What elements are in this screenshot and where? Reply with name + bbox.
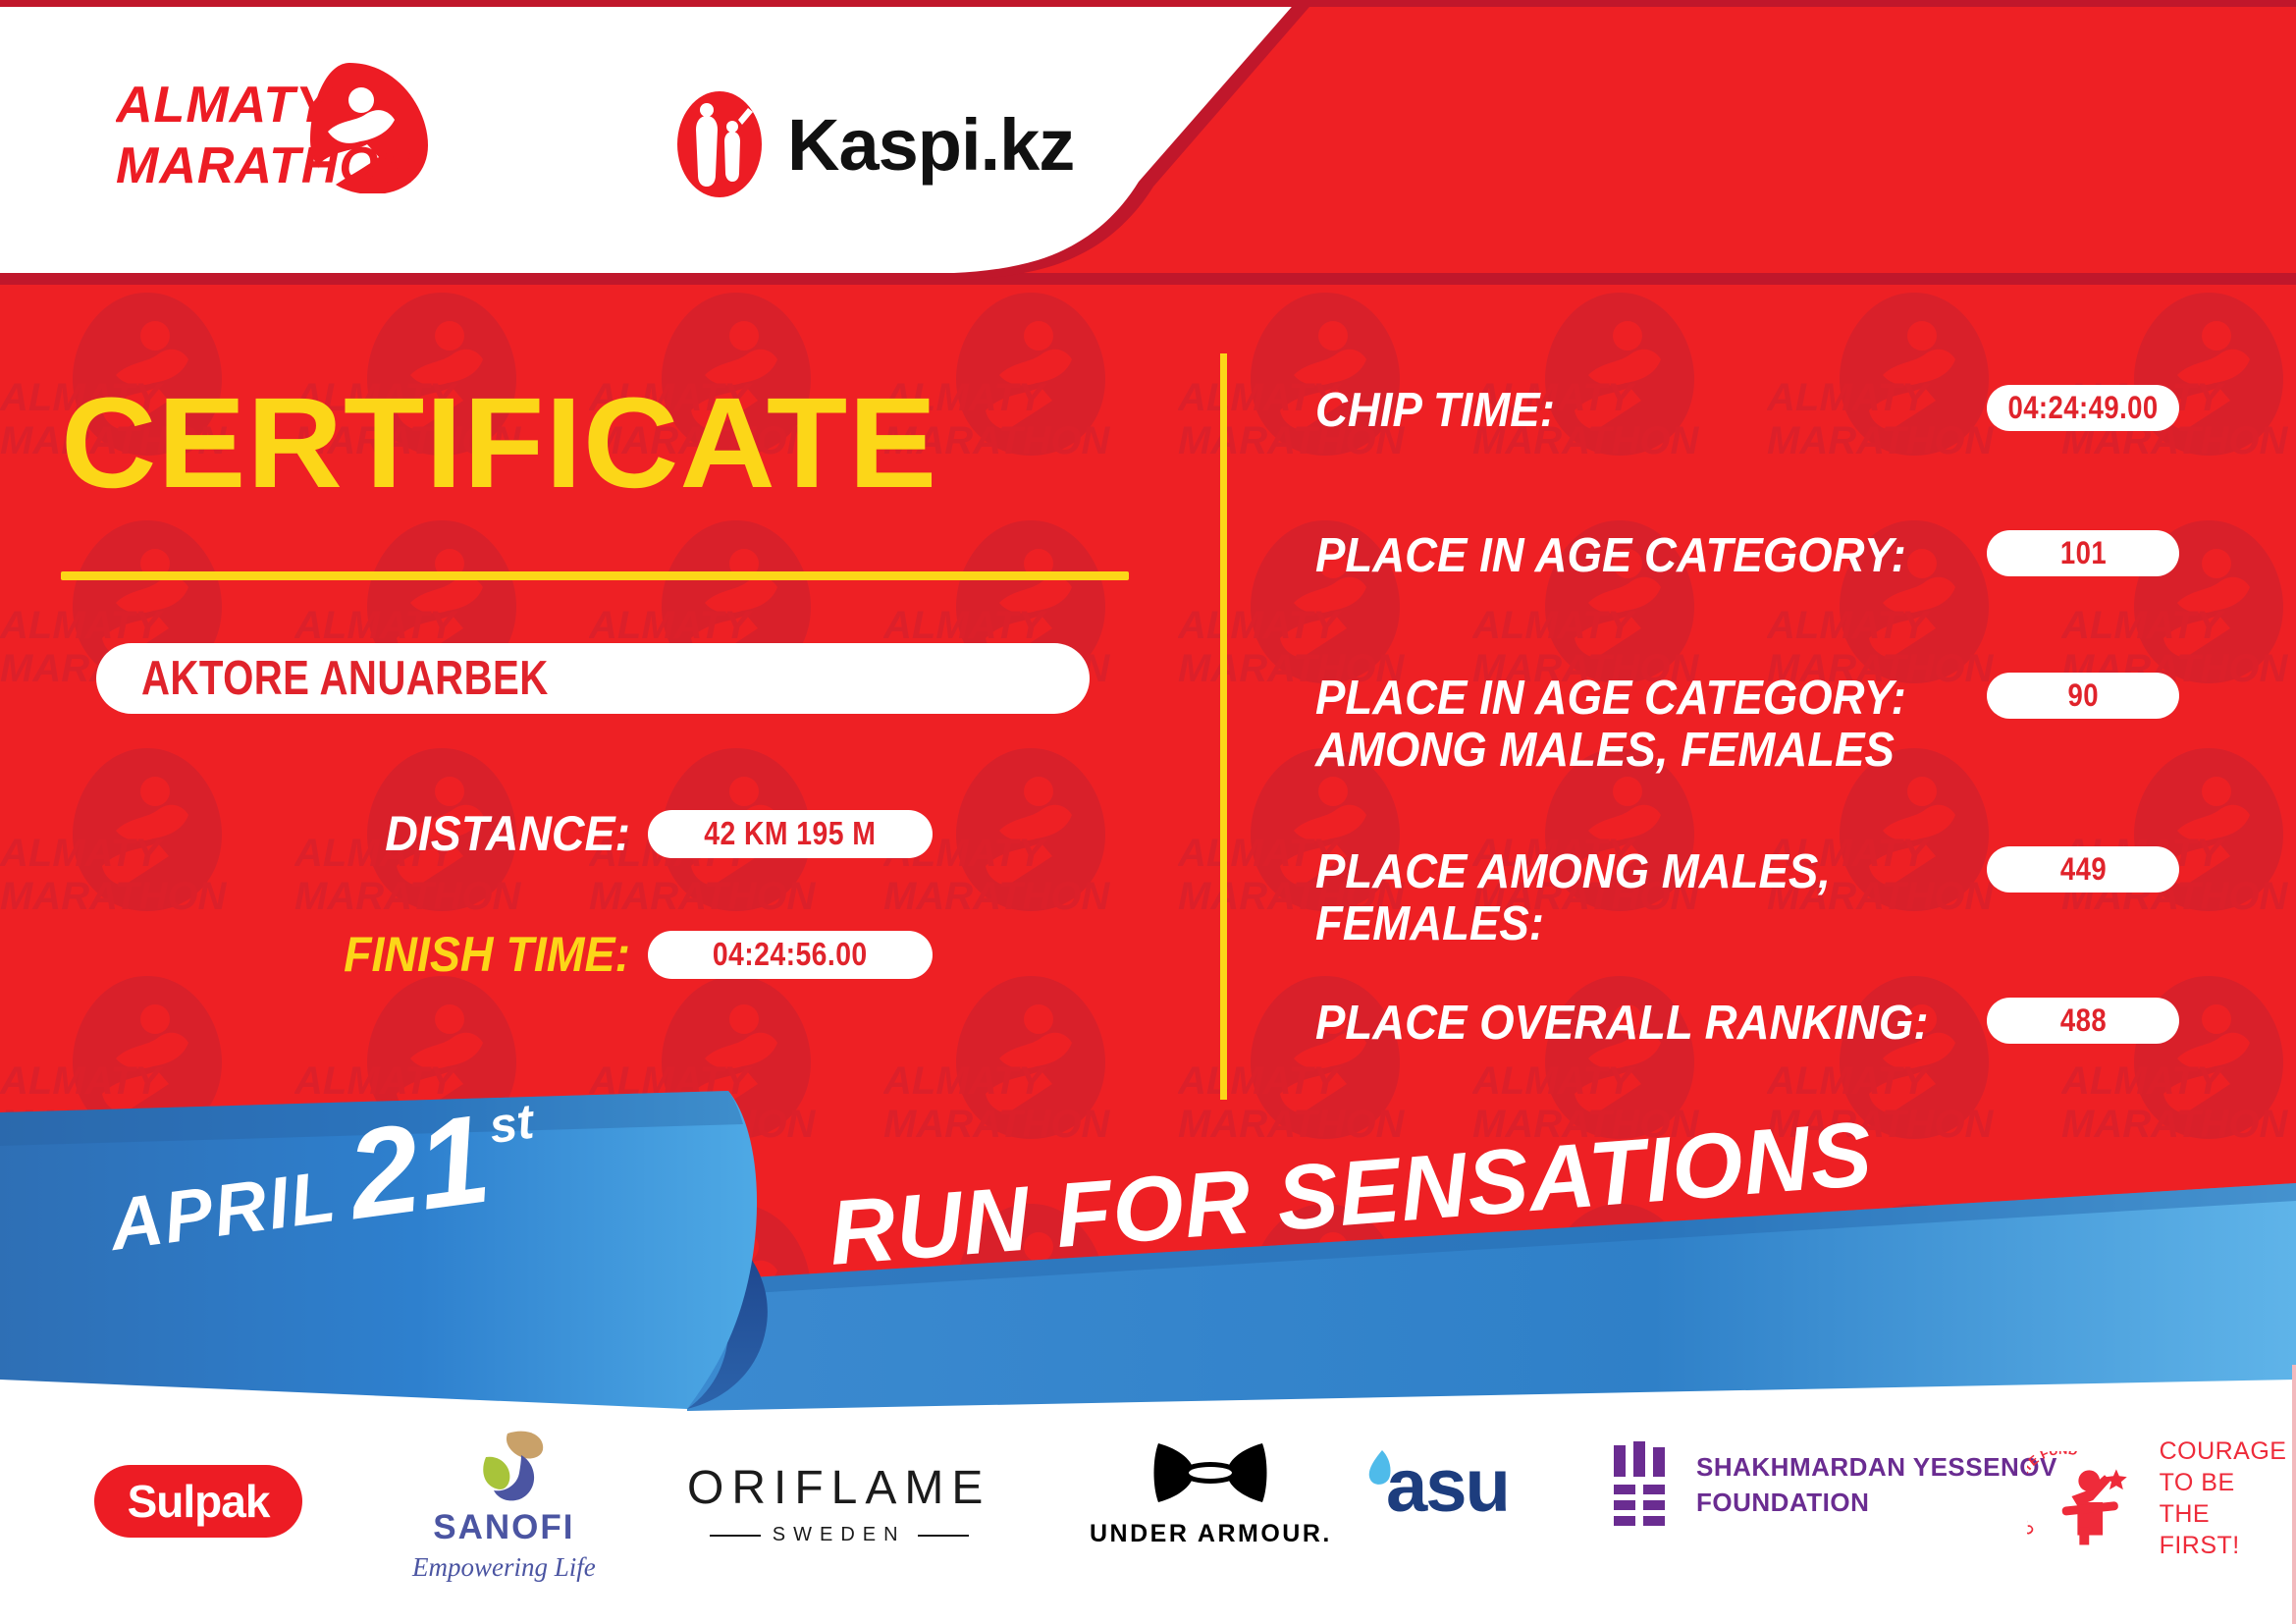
svg-text:CORPORATE FUND: CORPORATE FUND bbox=[2027, 1451, 2079, 1539]
place-overall-label: PLACE OVERALL RANKING: bbox=[1315, 998, 1929, 1050]
distance-value-pill: 42 KM 195 M bbox=[648, 810, 933, 858]
ribbon-ordinal: st bbox=[486, 1092, 537, 1154]
kaspi-logo: Kaspi.kz bbox=[677, 90, 1074, 198]
ribbon-day: 21 bbox=[342, 1101, 496, 1234]
place-among-gender-row: PLACE AMONG MALES, FEMALES: 449 bbox=[1315, 846, 2179, 950]
sulpak-wordmark: Sulpak bbox=[128, 1475, 270, 1528]
yessenov-line1: SHAKHMARDAN YESSENOV bbox=[1696, 1449, 2057, 1485]
yessenov-text-block: SHAKHMARDAN YESSENOV FOUNDATION bbox=[1696, 1449, 2057, 1521]
participant-name-value: AKTORE ANUARBEK bbox=[141, 651, 549, 706]
under-armour-wordmark: UNDER ARMOUR. bbox=[1090, 1520, 1332, 1548]
courage-fund-mark-icon: CORPORATE FUND bbox=[2027, 1451, 2144, 1545]
place-overall-value: 488 bbox=[2059, 1002, 2106, 1039]
place-age-category-gender-value-pill: 90 bbox=[1987, 673, 2179, 719]
sanofi-mark-icon bbox=[456, 1428, 551, 1504]
kaspi-mark-icon bbox=[677, 90, 762, 198]
title-underline bbox=[61, 571, 1129, 580]
place-overall-value-pill: 488 bbox=[1987, 998, 2179, 1044]
place-age-category-label: PLACE IN AGE CATEGORY: bbox=[1315, 530, 1906, 582]
sponsor-under-armour: UNDER ARMOUR. bbox=[1090, 1435, 1332, 1548]
place-age-category-value-pill: 101 bbox=[1987, 530, 2179, 576]
sulpak-logo: Sulpak bbox=[94, 1465, 302, 1538]
finish-time-value: 04:24:56.00 bbox=[713, 936, 868, 973]
courage-line2: TO BE bbox=[2160, 1467, 2296, 1498]
chip-time-label: CHIP TIME: bbox=[1315, 385, 1555, 437]
oriflame-wordmark: ORIFLAME bbox=[687, 1461, 990, 1515]
top-accent-rule bbox=[0, 0, 2296, 7]
kaspi-wordmark: Kaspi.kz bbox=[787, 103, 1074, 187]
finish-time-label: FINISH TIME: bbox=[293, 926, 630, 983]
sponsor-oriflame: ORIFLAME SWEDEN bbox=[687, 1461, 990, 1546]
courage-line3: THE FIRST! bbox=[2160, 1498, 2296, 1561]
oriflame-country: SWEDEN bbox=[773, 1524, 906, 1546]
distance-row: DISTANCE: 42 KM 195 M bbox=[267, 805, 933, 862]
right-edge-rule bbox=[2292, 1365, 2296, 1624]
place-among-gender-value-pill: 449 bbox=[1987, 846, 2179, 893]
place-overall-row: PLACE OVERALL RANKING: 488 bbox=[1315, 998, 2179, 1050]
oriflame-rule-right bbox=[918, 1535, 969, 1537]
place-age-category-row: PLACE IN AGE CATEGORY: 101 bbox=[1315, 530, 2179, 582]
place-age-category-value: 101 bbox=[2059, 535, 2106, 571]
place-among-gender-label: PLACE AMONG MALES, FEMALES: bbox=[1315, 846, 1831, 950]
finish-time-value-pill: 04:24:56.00 bbox=[648, 931, 933, 979]
courage-line1: COURAGE bbox=[2160, 1435, 2296, 1467]
distance-label: DISTANCE: bbox=[293, 805, 630, 862]
courage-text-block: COURAGE TO BE THE FIRST! bbox=[2160, 1435, 2296, 1561]
sponsor-sanofi: SANOFI Empowering Life bbox=[412, 1428, 596, 1583]
oriflame-sub-row: SWEDEN bbox=[710, 1524, 969, 1546]
sponsor-sulpak: Sulpak bbox=[94, 1465, 302, 1538]
chip-time-value-pill: 04:24:49.00 bbox=[1987, 385, 2179, 431]
asu-wordmark: asu bbox=[1386, 1443, 1509, 1529]
svg-text:MARATHON: MARATHON bbox=[116, 137, 418, 193]
distance-value: 42 KM 195 M bbox=[704, 815, 876, 852]
under-armour-mark-icon bbox=[1150, 1435, 1270, 1512]
yessenov-mark-icon bbox=[1610, 1441, 1671, 1528]
place-age-category-gender-label: PLACE IN AGE CATEGORY: AMONG MALES, FEMA… bbox=[1315, 673, 1906, 777]
brand-row: ALMATY MARATHON Kaspi.kz bbox=[0, 0, 1315, 280]
column-divider bbox=[1220, 353, 1227, 1100]
place-age-category-gender-value: 90 bbox=[2067, 677, 2098, 714]
page-title: CERTIFICATE bbox=[61, 378, 937, 507]
sponsor-bar: Sulpak SANOFI Empowering Life ORIFLAME S… bbox=[0, 1414, 2296, 1600]
finish-time-row: FINISH TIME: 04:24:56.00 bbox=[267, 926, 933, 983]
almaty-marathon-logo: ALMATY MARATHON bbox=[116, 61, 440, 193]
svg-text:ALMATY: ALMATY bbox=[116, 77, 334, 134]
chip-time-row: CHIP TIME: 04:24:49.00 bbox=[1315, 385, 2179, 437]
yessenov-line2: FOUNDATION bbox=[1696, 1485, 2057, 1520]
sanofi-wordmark: SANOFI bbox=[433, 1508, 574, 1547]
sanofi-tagline: Empowering Life bbox=[412, 1552, 596, 1583]
place-age-category-gender-row: PLACE IN AGE CATEGORY: AMONG MALES, FEMA… bbox=[1315, 673, 2179, 777]
place-among-gender-value: 449 bbox=[2059, 851, 2106, 888]
participant-name-field: AKTORE ANUARBEK bbox=[96, 643, 1090, 714]
chip-time-value: 04:24:49.00 bbox=[2007, 390, 2158, 426]
sponsor-courage-to-be-the-first: CORPORATE FUND COURAGE TO BE THE FIRST! bbox=[2027, 1435, 2296, 1561]
certificate-root: ALMATY MARATHON ALMATY MARATHON bbox=[0, 0, 2296, 1624]
oriflame-rule-left bbox=[710, 1535, 761, 1537]
sponsor-asu: asu bbox=[1364, 1443, 1509, 1529]
sponsor-shakhmardan-yessenov: SHAKHMARDAN YESSENOV FOUNDATION bbox=[1610, 1441, 2057, 1528]
